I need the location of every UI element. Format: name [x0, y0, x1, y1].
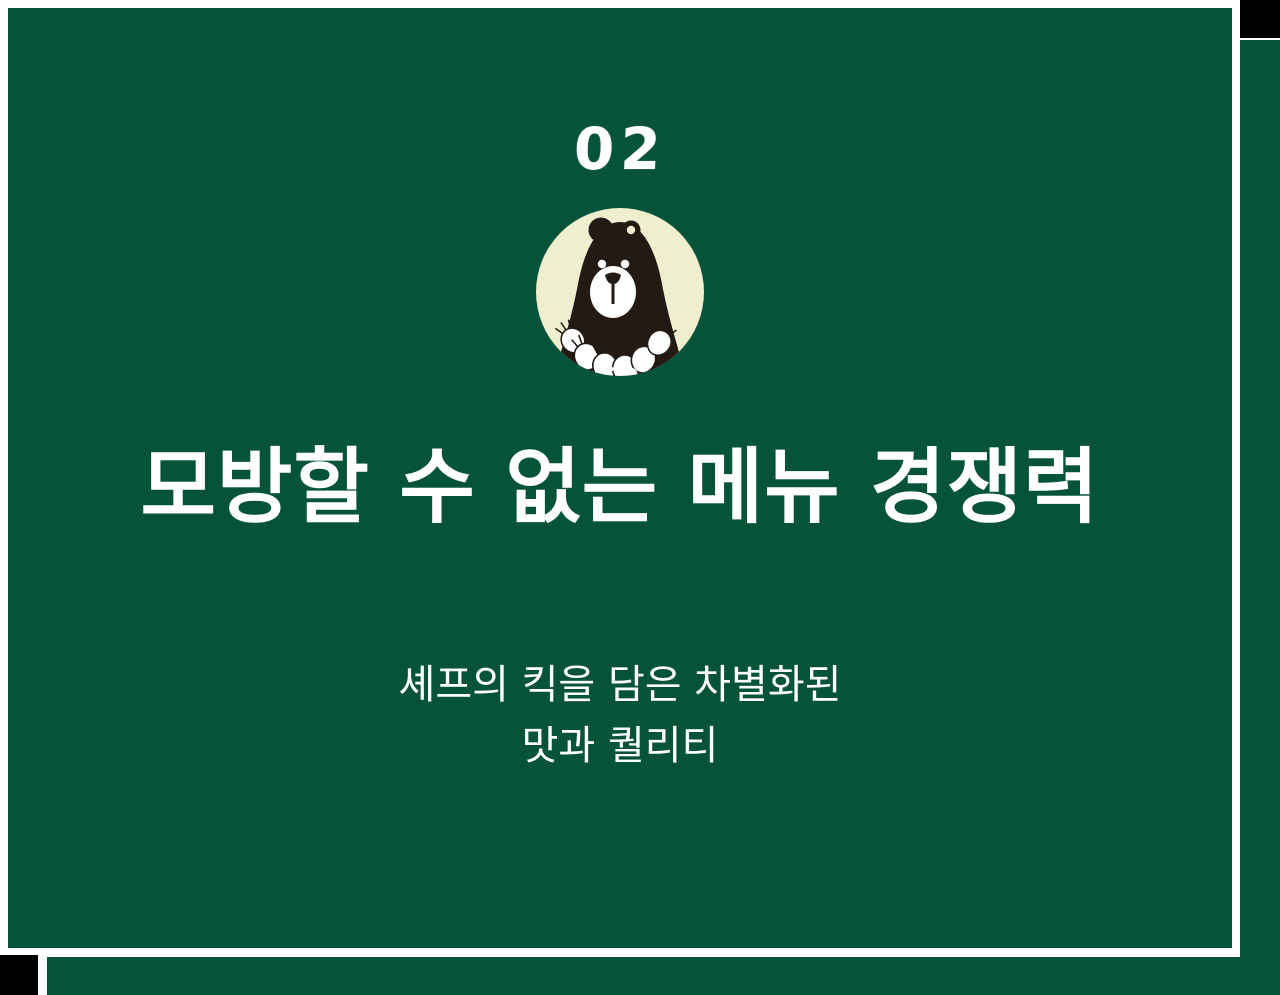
right-vertical-green-bar: [1240, 40, 1280, 995]
page-subtitle-line-1: 셰프의 킥을 담은 차별화된: [399, 655, 842, 716]
black-square-bottom-left: [0, 955, 38, 995]
slide-content: 02: [8, 8, 1232, 948]
bottom-horizontal-green-bar: [47, 957, 1280, 995]
black-square-top-right: [1240, 0, 1280, 38]
page-title: 모방할 수 없는 메뉴 경쟁력: [140, 442, 1099, 534]
bear-with-garlic-necklace-icon: [530, 204, 710, 384]
page-subtitle: 셰프의 킥을 담은 차별화된 맛과 퀄리티: [399, 655, 842, 777]
page-subtitle-line-2: 맛과 퀄리티: [399, 716, 842, 777]
slide-canvas: 02: [0, 0, 1280, 995]
section-number: 02: [573, 118, 668, 180]
